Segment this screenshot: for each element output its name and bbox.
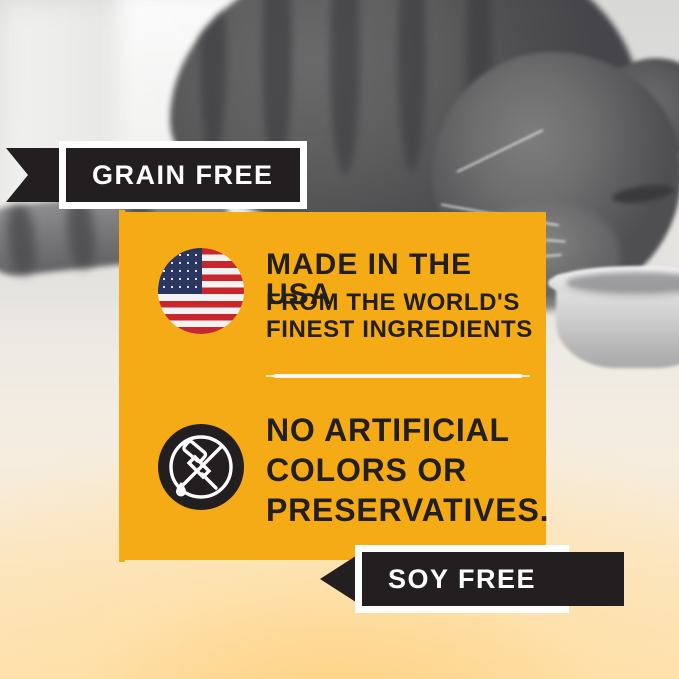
claim-no-artificial-line-3: PRESERVATIVES. [266, 490, 549, 530]
product-claims-image: MADE IN THE USA FROM THE WORLD'S FINEST … [0, 0, 679, 679]
us-flag-icon [158, 248, 244, 334]
claim-no-artificial-line-1: NO ARTIFICIAL [266, 410, 549, 450]
claims-divider [274, 374, 522, 378]
claim-subline-line-1: FROM THE WORLD'S [266, 290, 533, 317]
us-flag-stars [158, 248, 202, 294]
ribbon-soy-free-label: SOY FREE [362, 552, 562, 606]
ribbon-soy-free-right-tail [562, 552, 624, 606]
claims-card: MADE IN THE USA FROM THE WORLD'S FINEST … [122, 212, 546, 560]
claim-no-artificial-line-2: COLORS OR [266, 450, 549, 490]
no-artificial-dropper-icon [158, 424, 244, 510]
ribbon-grain-free-label: GRAIN FREE [66, 148, 300, 202]
ribbon-soy-free: SOY FREE [362, 552, 562, 606]
ribbon-grain-free: GRAIN FREE [66, 148, 300, 202]
claim-subline-line-2: FINEST INGREDIENTS [266, 317, 533, 344]
claim-subline-world-finest: FROM THE WORLD'S FINEST INGREDIENTS [266, 290, 533, 344]
claim-headline-no-artificial: NO ARTIFICIAL COLORS OR PRESERVATIVES. [266, 410, 549, 530]
